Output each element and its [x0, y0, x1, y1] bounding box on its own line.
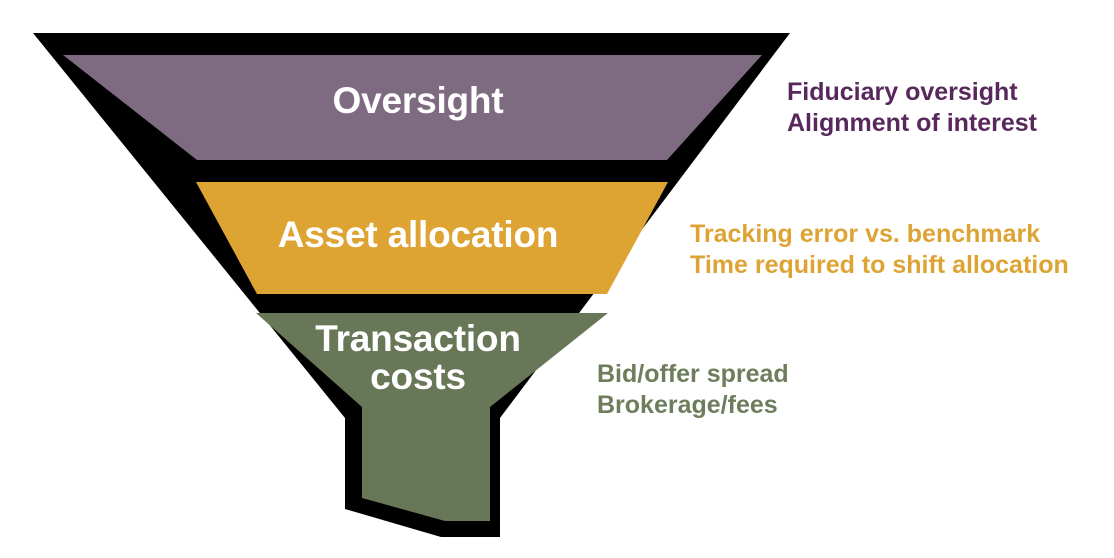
- funnel-note-transaction-costs-line-2: Brokerage/fees: [597, 390, 789, 421]
- funnel-band-label-transaction-line-1: Transaction: [315, 318, 520, 359]
- funnel-note-oversight: Fiduciary oversight Alignment of interes…: [787, 77, 1037, 138]
- funnel-note-transaction-costs: Bid/offer spread Brokerage/fees: [597, 359, 789, 420]
- funnel-note-oversight-line-1: Fiduciary oversight: [787, 77, 1037, 108]
- funnel-diagram: Oversight Asset allocation Transaction c…: [0, 0, 1114, 558]
- funnel-band-label-oversight: Oversight: [240, 82, 596, 120]
- funnel-note-asset-allocation-line-2: Time required to shift allocation: [690, 250, 1069, 281]
- funnel-band-label-asset-allocation: Asset allocation: [218, 216, 618, 254]
- funnel-note-oversight-line-2: Alignment of interest: [787, 108, 1037, 139]
- funnel-note-asset-allocation-line-1: Tracking error vs. benchmark: [690, 219, 1069, 250]
- funnel-note-transaction-costs-line-1: Bid/offer spread: [597, 359, 789, 390]
- funnel-note-asset-allocation: Tracking error vs. benchmark Time requir…: [690, 219, 1069, 280]
- funnel-band-label-transaction-costs: Transaction costs: [268, 320, 568, 397]
- funnel-band-label-transaction-line-2: costs: [370, 356, 466, 397]
